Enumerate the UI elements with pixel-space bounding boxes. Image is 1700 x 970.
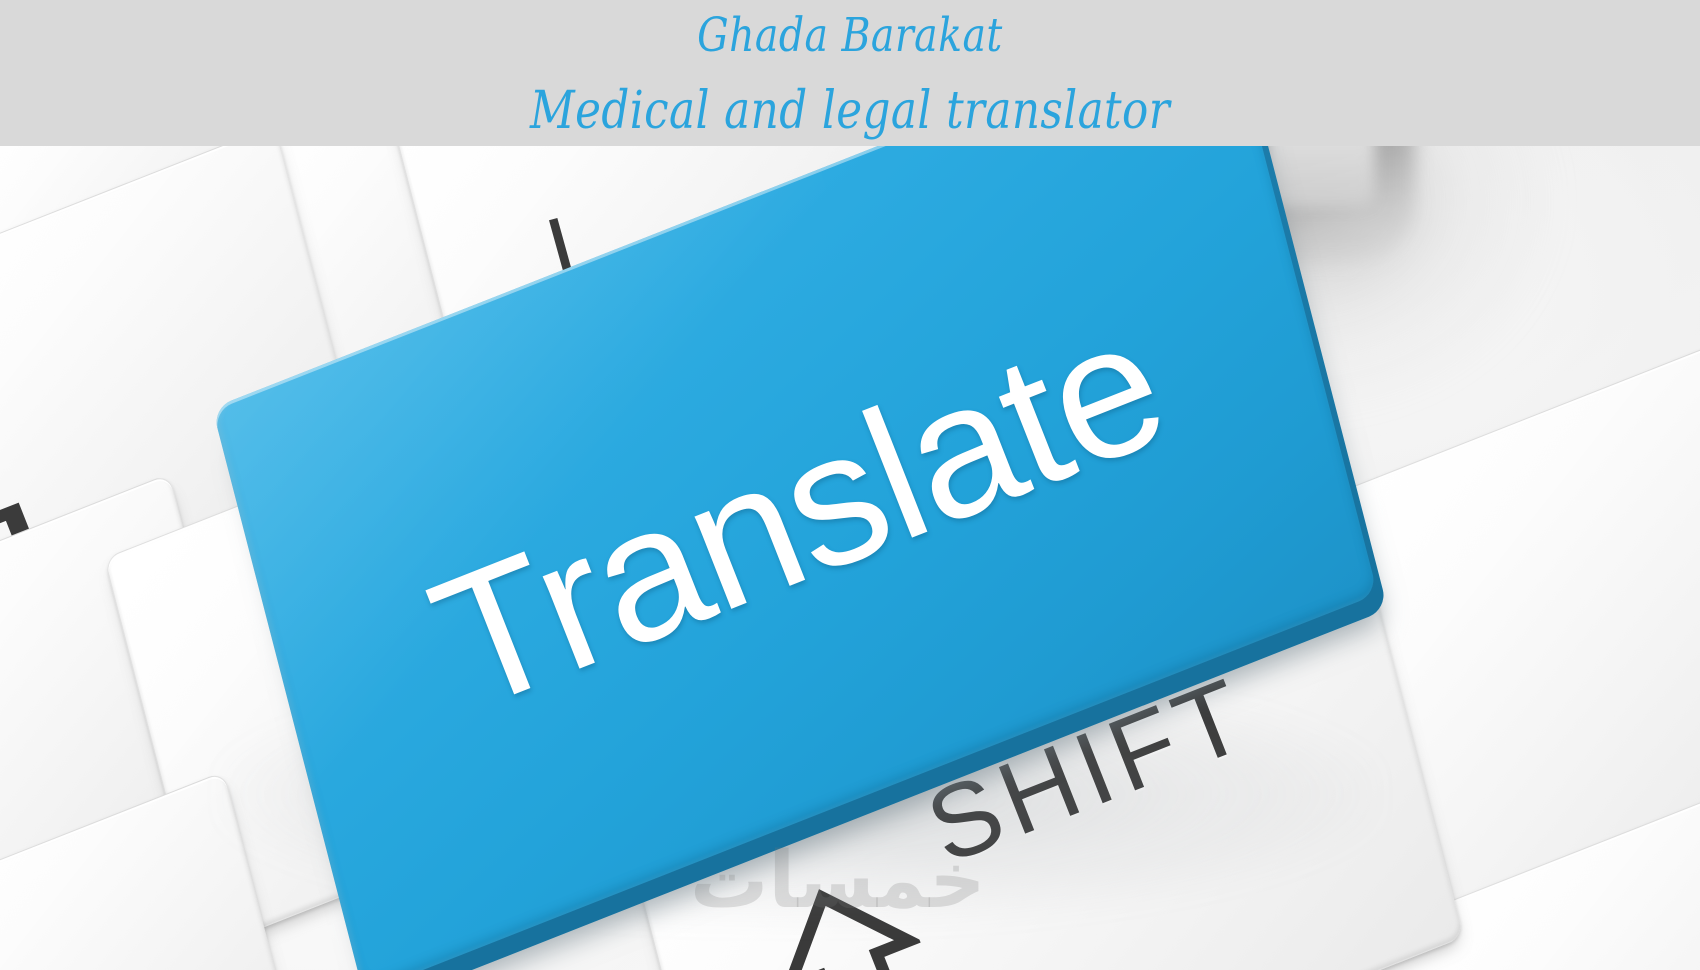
key-legend-right-brace: } [0,369,18,498]
header-name: Ghada Barakat [697,12,1003,59]
header-role: Medical and legal translator [530,85,1170,137]
translate-key-label: Translate [411,286,1186,739]
header-band: Ghada Barakat Medical and legal translat… [0,0,1700,146]
page-root: | \ } ] " " SHIFT Translat [0,0,1700,970]
shift-up-arrow-icon [749,862,955,970]
keyboard-photo: | \ } ] " " SHIFT Translat [0,146,1700,970]
